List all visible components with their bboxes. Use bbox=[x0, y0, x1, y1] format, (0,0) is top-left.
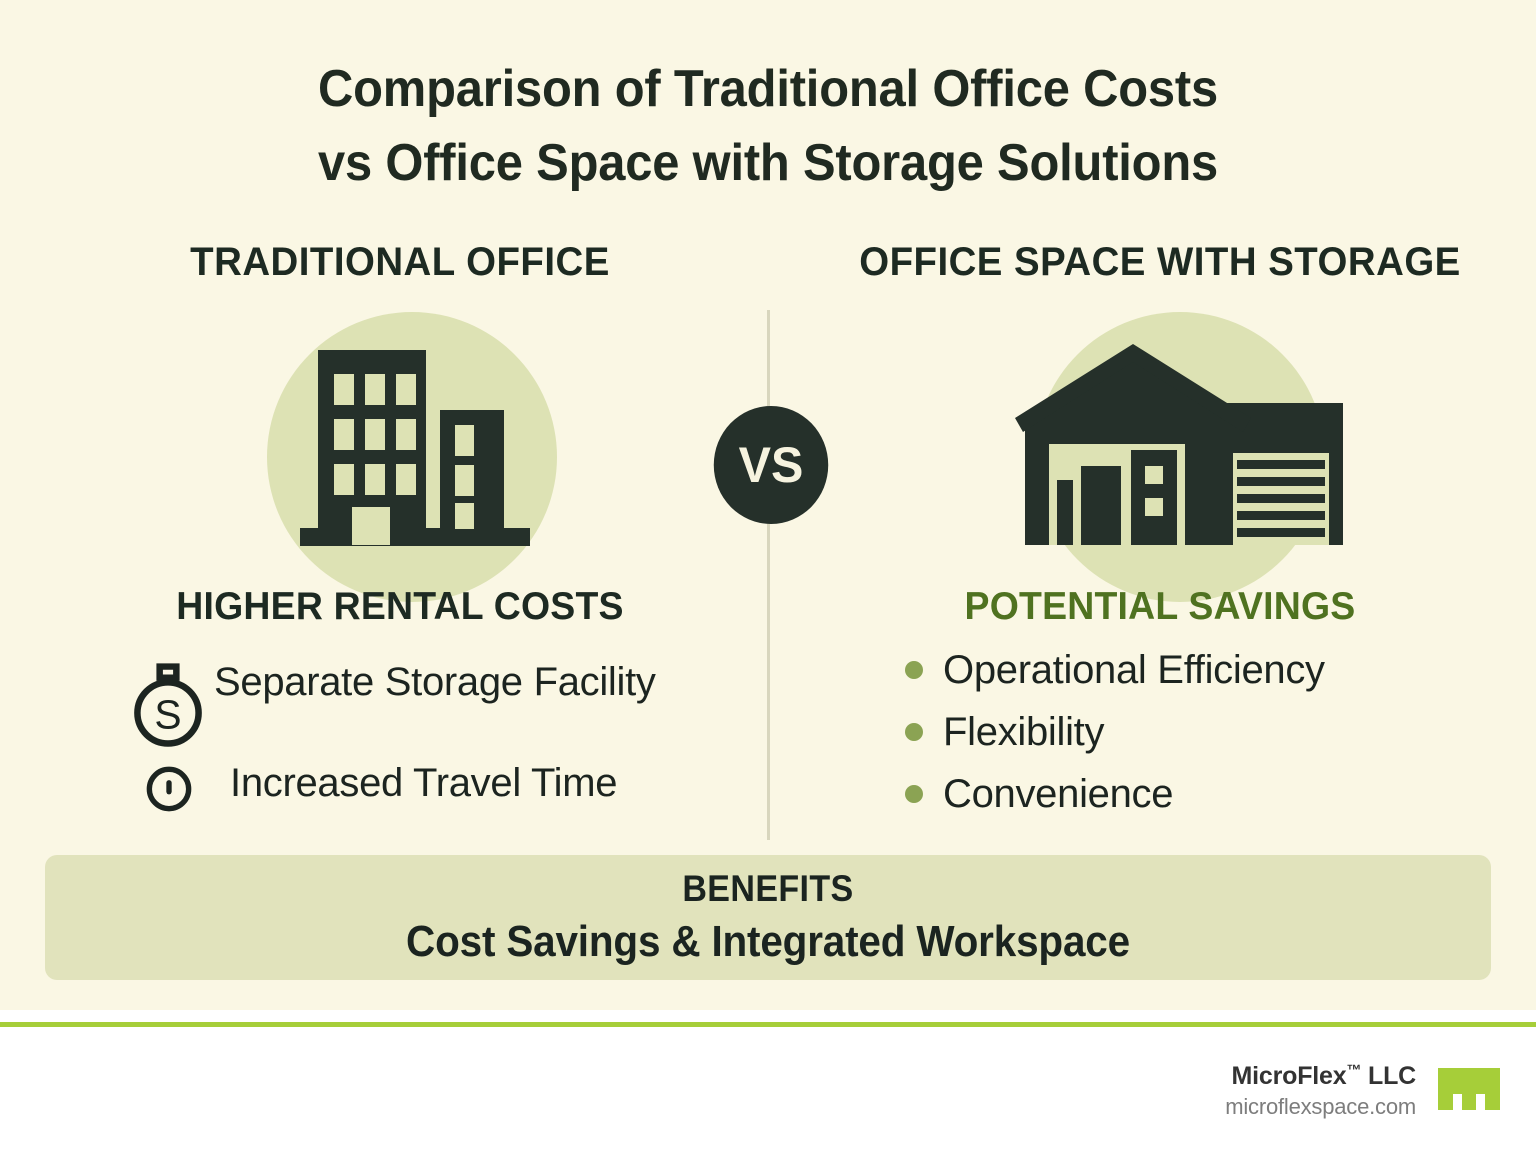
right-bullet-list: Operational Efficiency Flexibility Conve… bbox=[905, 645, 1525, 831]
footer: MicroFlex™ LLC microflexspace.com bbox=[1225, 1055, 1500, 1122]
bullet-dot-icon bbox=[905, 723, 923, 741]
warehouse-storage-icon bbox=[985, 340, 1365, 555]
list-item: Flexibility bbox=[905, 707, 1525, 757]
brand-website[interactable]: microflexspace.com bbox=[1225, 1092, 1416, 1122]
dollar-coin-icon: S bbox=[128, 655, 214, 750]
page-title-line2: vs Office Space with Storage Solutions bbox=[46, 126, 1490, 200]
office-building-icon bbox=[300, 340, 530, 570]
trademark-symbol: ™ bbox=[1346, 1062, 1361, 1079]
list-item-label: Flexibility bbox=[943, 707, 1104, 757]
footer-divider bbox=[0, 1022, 1536, 1027]
left-subheading: HIGHER RENTAL COSTS bbox=[102, 585, 697, 629]
page-title: Comparison of Traditional Office Costs v… bbox=[46, 52, 1490, 200]
list-item-label: Convenience bbox=[943, 769, 1173, 819]
brand-suffix: LLC bbox=[1361, 1062, 1416, 1090]
page-title-line1: Comparison of Traditional Office Costs bbox=[318, 60, 1218, 118]
footer-text-block: MicroFlex™ LLC microflexspace.com bbox=[1225, 1055, 1416, 1122]
infographic-root: Comparison of Traditional Office Costs v… bbox=[0, 0, 1536, 1154]
microflex-logo-icon bbox=[1438, 1068, 1500, 1110]
right-column-header: OFFICE SPACE WITH STORAGE bbox=[834, 240, 1487, 285]
right-subheading: POTENTIAL SAVINGS bbox=[834, 585, 1487, 629]
list-item: S Separate Storage Facility bbox=[128, 655, 748, 750]
list-item-label: Operational Efficiency bbox=[943, 645, 1325, 695]
list-item: Convenience bbox=[905, 769, 1525, 819]
clock-icon bbox=[128, 756, 230, 814]
benefits-title: BENEFITS bbox=[103, 865, 1433, 913]
brand-name-text: MicroFlex bbox=[1232, 1062, 1347, 1090]
benefits-subtitle: Cost Savings & Integrated Workspace bbox=[103, 913, 1433, 971]
list-item: Operational Efficiency bbox=[905, 645, 1525, 695]
list-item-label: Increased Travel Time bbox=[230, 756, 617, 810]
bullet-dot-icon bbox=[905, 785, 923, 803]
left-column-header: TRADITIONAL OFFICE bbox=[102, 240, 697, 285]
list-item: Increased Travel Time bbox=[128, 756, 748, 814]
left-feature-list: S Separate Storage Facility Increased Tr… bbox=[128, 655, 748, 820]
brand-name: MicroFlex™ LLC bbox=[1225, 1055, 1416, 1092]
benefits-banner: BENEFITS Cost Savings & Integrated Works… bbox=[45, 855, 1491, 980]
column-divider bbox=[767, 310, 770, 840]
list-item-label: Separate Storage Facility bbox=[214, 655, 656, 709]
bullet-dot-icon bbox=[905, 661, 923, 679]
svg-text:S: S bbox=[154, 692, 181, 738]
vs-badge: VS bbox=[714, 406, 828, 524]
